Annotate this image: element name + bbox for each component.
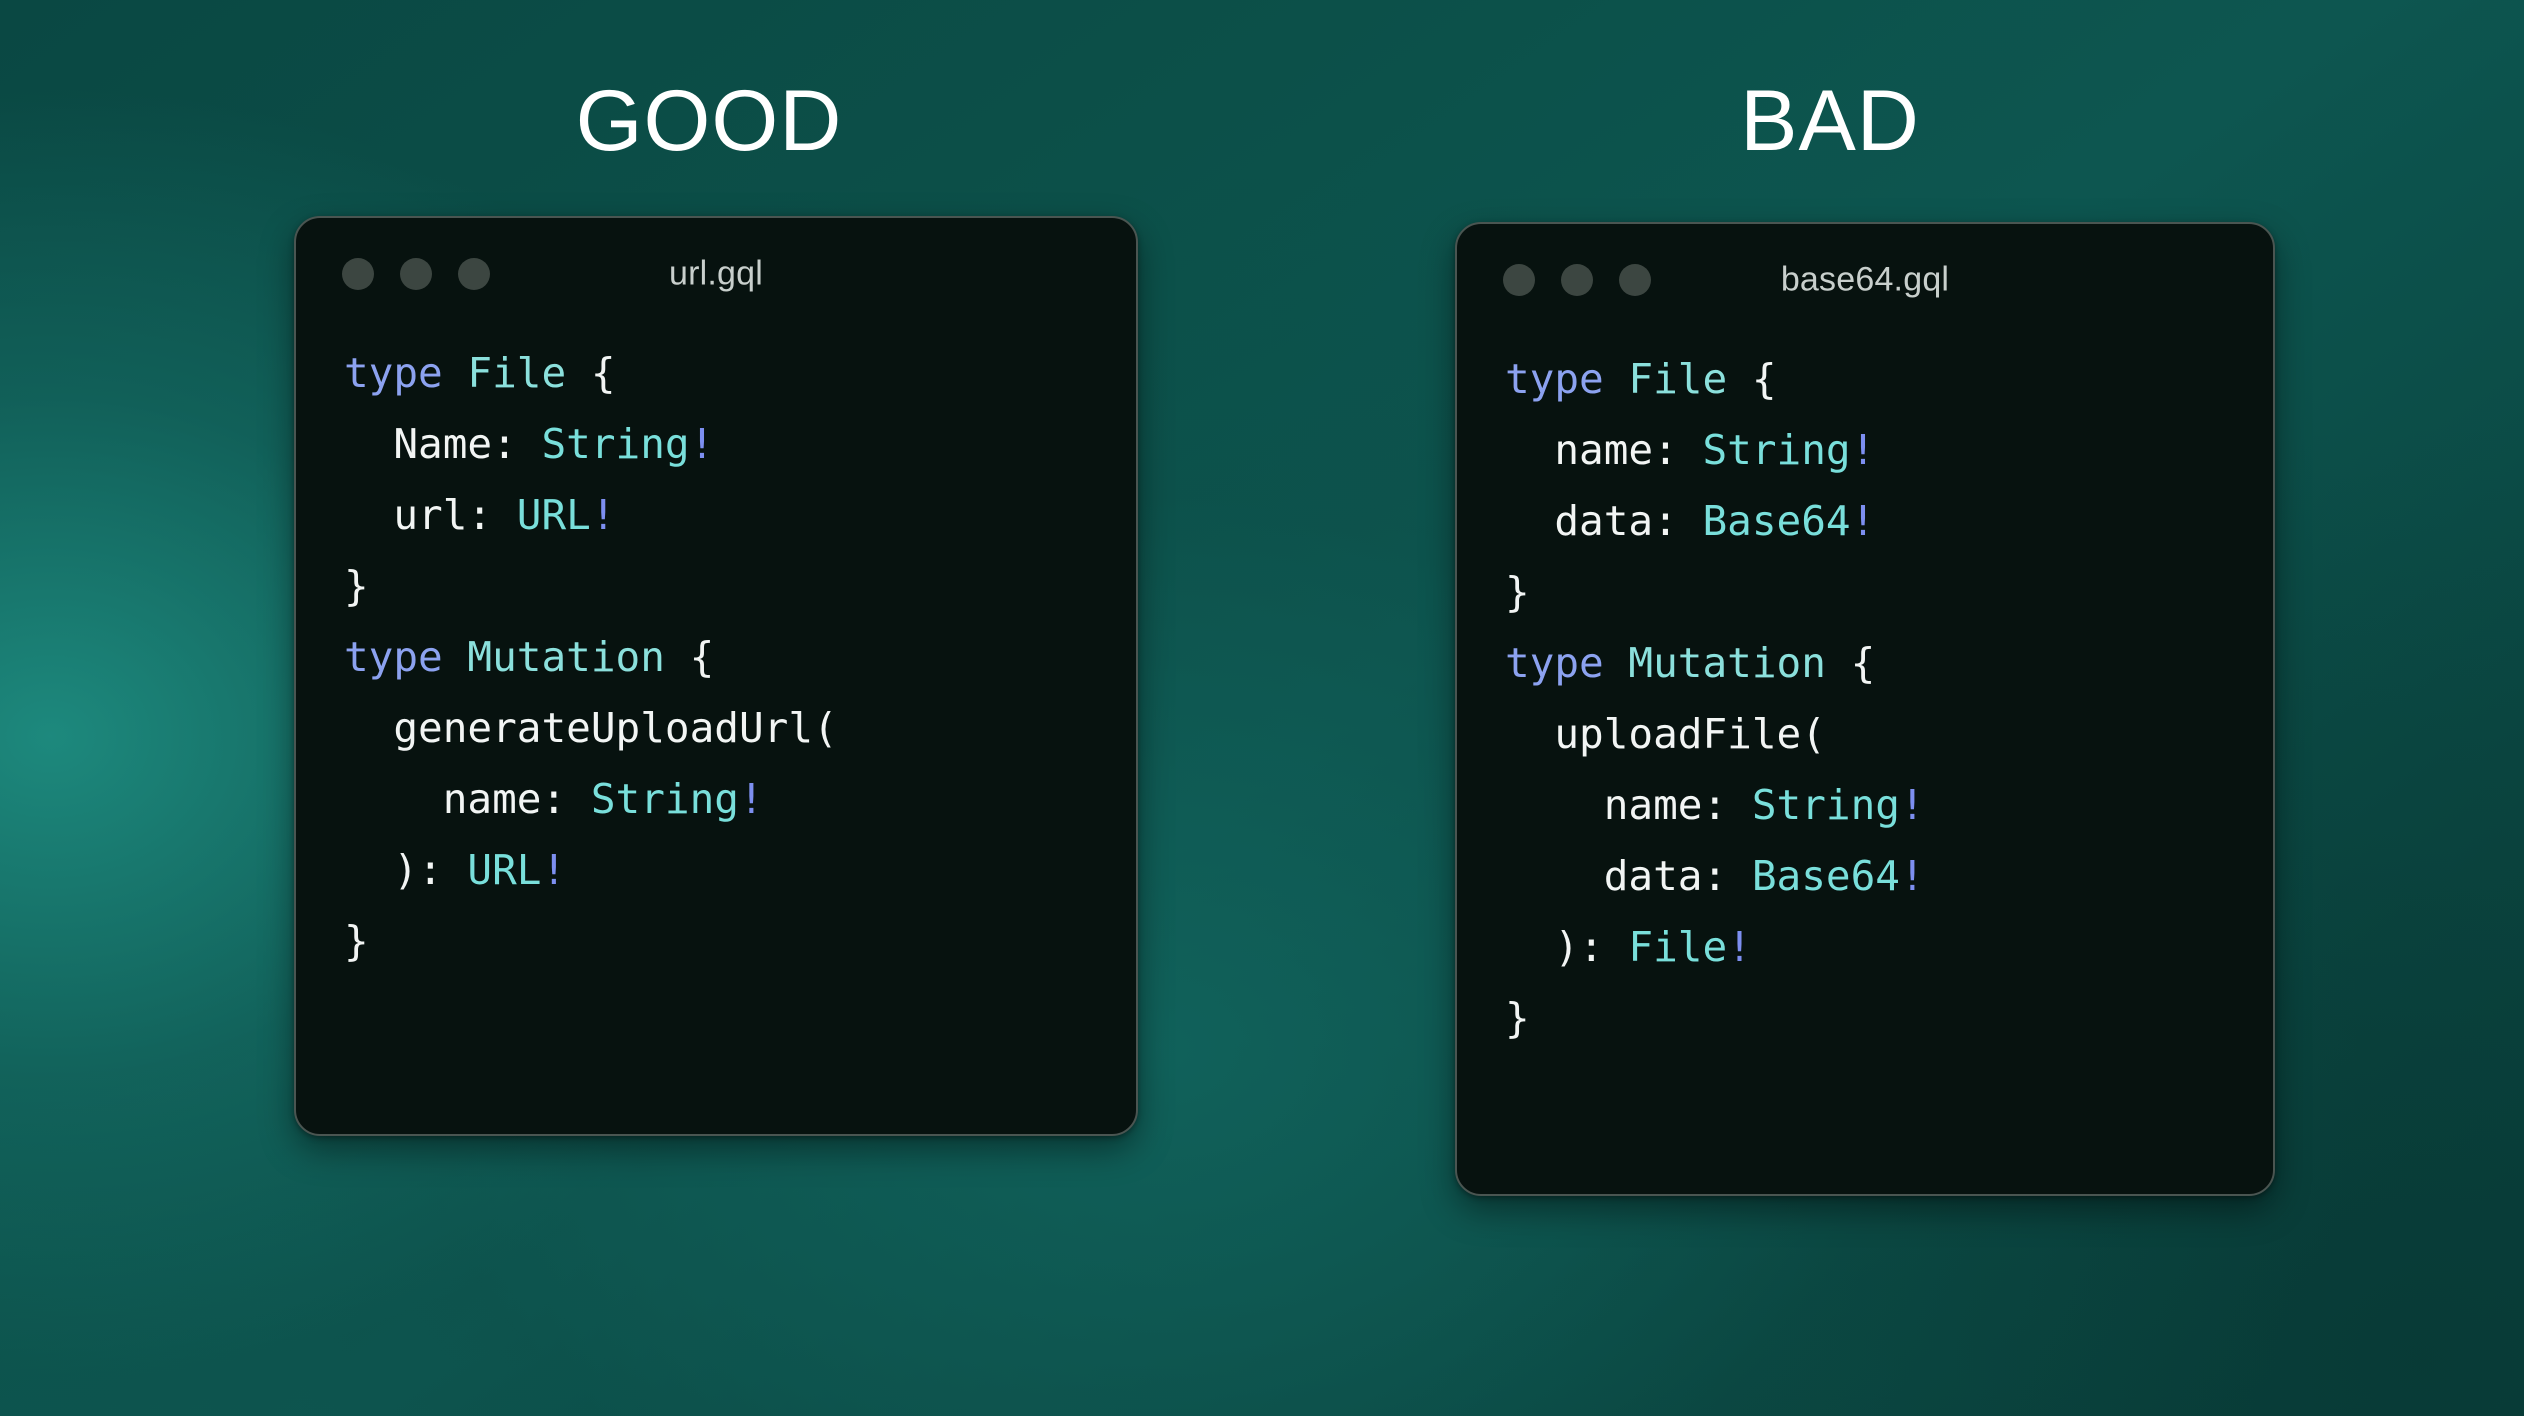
code-line: generateUploadUrl( bbox=[344, 693, 1136, 764]
code-token: type bbox=[344, 633, 467, 681]
code-line: type Mutation { bbox=[344, 622, 1136, 693]
code-block-good: type File { Name: String! url: URL!}type… bbox=[296, 330, 1136, 977]
code-token: name: bbox=[1505, 426, 1702, 474]
code-token: ): bbox=[344, 846, 467, 894]
code-line: data: Base64! bbox=[1505, 486, 2273, 557]
comparison-stage: GOOD url.gql type File { Name: String! u… bbox=[0, 0, 2524, 1416]
code-token: { bbox=[591, 349, 616, 397]
code-line: } bbox=[1505, 557, 2273, 628]
code-line: ): URL! bbox=[344, 835, 1136, 906]
window-titlebar: url.gql bbox=[296, 218, 1136, 330]
code-token: Base64 bbox=[1752, 852, 1900, 900]
code-token: type bbox=[1505, 639, 1628, 687]
code-token: Name: bbox=[344, 420, 541, 468]
code-token: ! bbox=[1851, 426, 1876, 474]
code-token: Base64 bbox=[1702, 497, 1850, 545]
code-line: data: Base64! bbox=[1505, 841, 2273, 912]
code-token: type bbox=[1505, 355, 1628, 403]
code-token: } bbox=[344, 562, 369, 610]
code-token: ): bbox=[1505, 923, 1628, 971]
code-window-bad: base64.gql type File { name: String! dat… bbox=[1455, 222, 2275, 1196]
code-token: ! bbox=[739, 775, 764, 823]
code-token: Mutation bbox=[467, 633, 689, 681]
code-token: name: bbox=[344, 775, 591, 823]
code-token: type bbox=[344, 349, 467, 397]
code-token: String bbox=[541, 420, 689, 468]
code-line: type File { bbox=[344, 338, 1136, 409]
code-token: uploadFile( bbox=[1505, 710, 1826, 758]
code-line: type Mutation { bbox=[1505, 628, 2273, 699]
code-token: ! bbox=[1851, 497, 1876, 545]
code-token: ! bbox=[1727, 923, 1752, 971]
column-heading-bad: BAD bbox=[1135, 78, 2524, 164]
window-titlebar: base64.gql bbox=[1457, 224, 2273, 336]
code-token: data: bbox=[1505, 497, 1702, 545]
code-line: } bbox=[344, 906, 1136, 977]
code-token: data: bbox=[1505, 852, 1752, 900]
code-block-bad: type File { name: String! data: Base64!}… bbox=[1457, 336, 2273, 1054]
code-token: { bbox=[1752, 355, 1777, 403]
code-token: File bbox=[467, 349, 590, 397]
code-token: } bbox=[344, 917, 369, 965]
code-token: URL bbox=[467, 846, 541, 894]
code-line: uploadFile( bbox=[1505, 699, 2273, 770]
code-window-good: url.gql type File { Name: String! url: U… bbox=[294, 216, 1138, 1136]
code-token: ! bbox=[541, 846, 566, 894]
code-token: ! bbox=[690, 420, 715, 468]
window-filename: url.gql bbox=[296, 255, 1136, 294]
code-token: ! bbox=[1900, 852, 1925, 900]
code-token: ! bbox=[591, 491, 616, 539]
code-token: File bbox=[1628, 923, 1727, 971]
code-token: { bbox=[690, 633, 715, 681]
code-token: String bbox=[591, 775, 739, 823]
code-token: ! bbox=[1900, 781, 1925, 829]
code-token: generateUploadUrl( bbox=[344, 704, 838, 752]
code-line: url: URL! bbox=[344, 480, 1136, 551]
code-token: name: bbox=[1505, 781, 1752, 829]
code-line: name: String! bbox=[344, 764, 1136, 835]
code-line: } bbox=[344, 551, 1136, 622]
code-line: type File { bbox=[1505, 344, 2273, 415]
code-token: url: bbox=[344, 491, 517, 539]
code-token: String bbox=[1752, 781, 1900, 829]
window-filename: base64.gql bbox=[1457, 261, 2273, 300]
code-line: name: String! bbox=[1505, 415, 2273, 486]
code-token: Mutation bbox=[1628, 639, 1850, 687]
code-line: name: String! bbox=[1505, 770, 2273, 841]
code-line: Name: String! bbox=[344, 409, 1136, 480]
code-token: File bbox=[1628, 355, 1751, 403]
code-token: { bbox=[1851, 639, 1876, 687]
code-line: ): File! bbox=[1505, 912, 2273, 983]
code-token: URL bbox=[517, 491, 591, 539]
code-token: } bbox=[1505, 994, 1530, 1042]
code-token: } bbox=[1505, 568, 1530, 616]
code-line: } bbox=[1505, 983, 2273, 1054]
code-token: String bbox=[1702, 426, 1850, 474]
